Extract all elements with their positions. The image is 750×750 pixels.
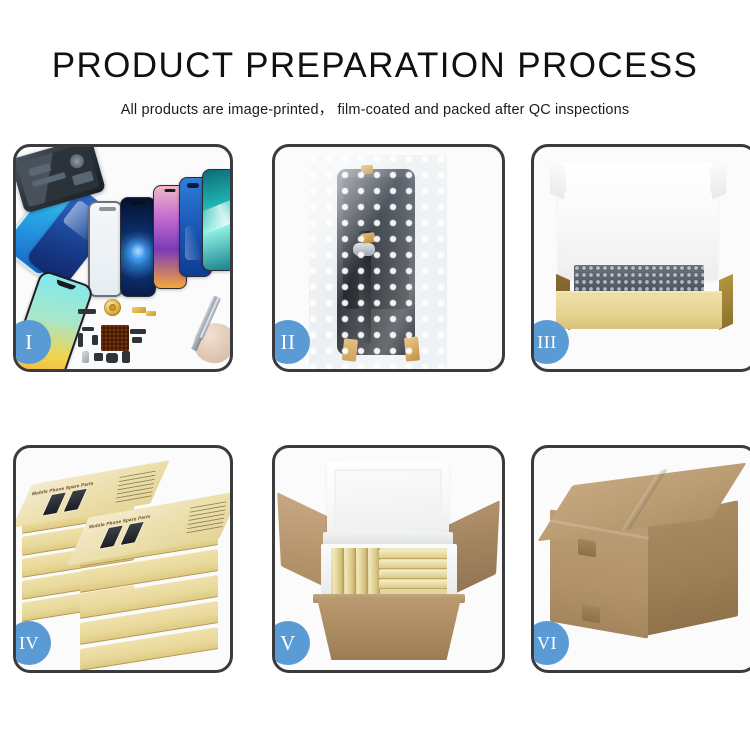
page-subtitle: All products are image-printed， film-coa… [0,98,750,119]
notch-icon [131,201,145,205]
label-spec-lines [115,471,155,504]
screen-protector-icon [88,201,123,297]
component-flex-vertical-icon [78,333,83,347]
yellow-box-vertical [333,548,344,596]
component-gold-flex-icon [132,307,146,313]
process-step-panel-3: III [531,144,750,372]
phone-teal-icon [202,169,230,271]
carton-tab-icon [578,538,596,557]
lightning-graphic-icon [124,237,152,265]
copper-grid-icon [101,325,129,351]
yellow-box-flat [379,560,447,569]
process-step-panel-4: Mobile Phone Spare Parts Mobile Phone Sp… [13,445,233,673]
component-chip-icon [94,353,103,361]
notch-icon [56,280,77,291]
label-spec-lines [186,501,226,534]
housing-chip-icon [28,163,51,177]
foam-inner-surface [564,193,712,269]
yellow-box-flat [379,570,447,579]
component-speaker-icon [106,353,118,363]
lcd-dark-blue-icon [120,197,156,297]
process-step-panel-5: V [272,445,505,673]
component-connector-icon [132,337,142,343]
yellow-box-vertical [357,548,368,596]
kraft-box-front [556,295,722,329]
yellow-box-flat [379,550,447,559]
bubble-wrap-bag-icon [309,155,447,369]
component-ribbon-icon [130,329,146,334]
component-bar-icon [78,309,96,314]
housing-chip-icon [72,171,94,186]
component-camera-icon [82,351,89,363]
component-small-icon [92,335,98,345]
component-flex-icon [82,327,94,331]
process-step-grid: I II [13,144,746,674]
copper-coil-icon [104,299,121,316]
housing-camera-icon [68,153,85,170]
process-step-panel-2: II [272,144,505,372]
page-title: PRODUCT PREPARATION PROCESS [0,48,750,83]
white-foam-lid-icon [327,462,449,540]
notch-icon [165,189,176,192]
cardboard-carton-icon [317,598,461,660]
yellow-box-vertical [345,548,356,596]
screen-photo-icon [41,491,67,517]
carton-tab-icon [582,604,600,623]
component-gold-tab-icon [146,311,156,316]
header: PRODUCT PREPARATION PROCESS All products… [0,0,750,119]
process-step-panel-6: VI [531,445,750,673]
yellow-box-flat [379,580,447,589]
component-battery-tab-icon [122,351,130,363]
yellow-boxes-icon [331,548,447,596]
process-step-panel-1: I [13,144,233,372]
product-preparation-process-infographic: PRODUCT PREPARATION PROCESS All products… [0,0,750,750]
plastic-sheen [309,155,447,369]
screen-photo-icon [98,524,124,550]
